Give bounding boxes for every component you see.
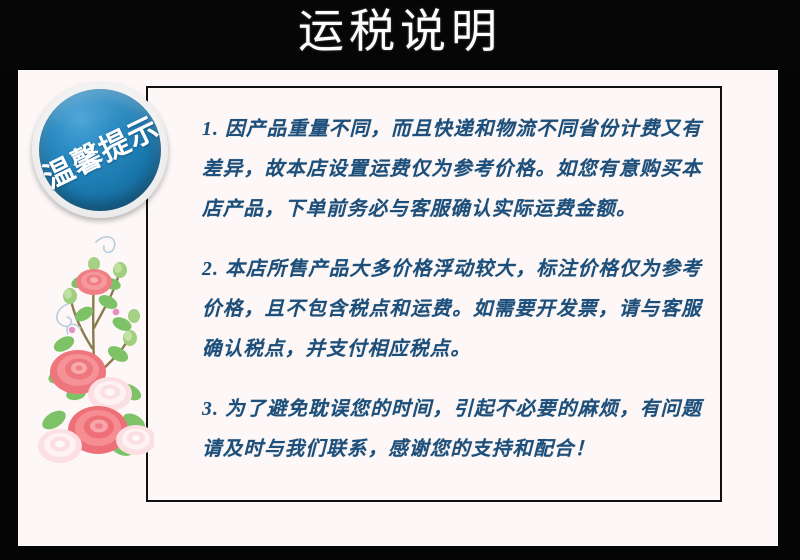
content-area: 1. 因产品重量不同，而且快递和物流不同省份计费又有差异，故本店设置运费仅为参考… (18, 70, 778, 546)
notice-text-block: 1. 因产品重量不同，而且快递和物流不同省份计费又有差异，故本店设置运费仅为参考… (202, 110, 702, 470)
notice-paragraph-2: 2. 本店所售产品大多价格浮动较大，标注价格仅为参考价格，且不包含税点和运费。如… (202, 250, 702, 370)
badge-label: 温馨提示 (9, 59, 191, 241)
page-title: 运税说明 (0, 2, 800, 62)
rose-bouquet-icon (34, 208, 154, 468)
tips-badge: 温馨提示 (32, 82, 168, 218)
poster-canvas: 运税说明 1. 因产品重量不同，而且快递和物流不同省份计费又有差异，故本店设置运… (0, 0, 800, 560)
notice-panel: 1. 因产品重量不同，而且快递和物流不同省份计费又有差异，故本店设置运费仅为参考… (146, 86, 722, 502)
notice-paragraph-3: 3. 为了避免耽误您的时间，引起不必要的麻烦，有问题请及时与我们联系，感谢您的支… (202, 390, 702, 470)
notice-paragraph-1: 1. 因产品重量不同，而且快递和物流不同省份计费又有差异，故本店设置运费仅为参考… (202, 110, 702, 230)
title-banner: 运税说明 (0, 0, 800, 70)
